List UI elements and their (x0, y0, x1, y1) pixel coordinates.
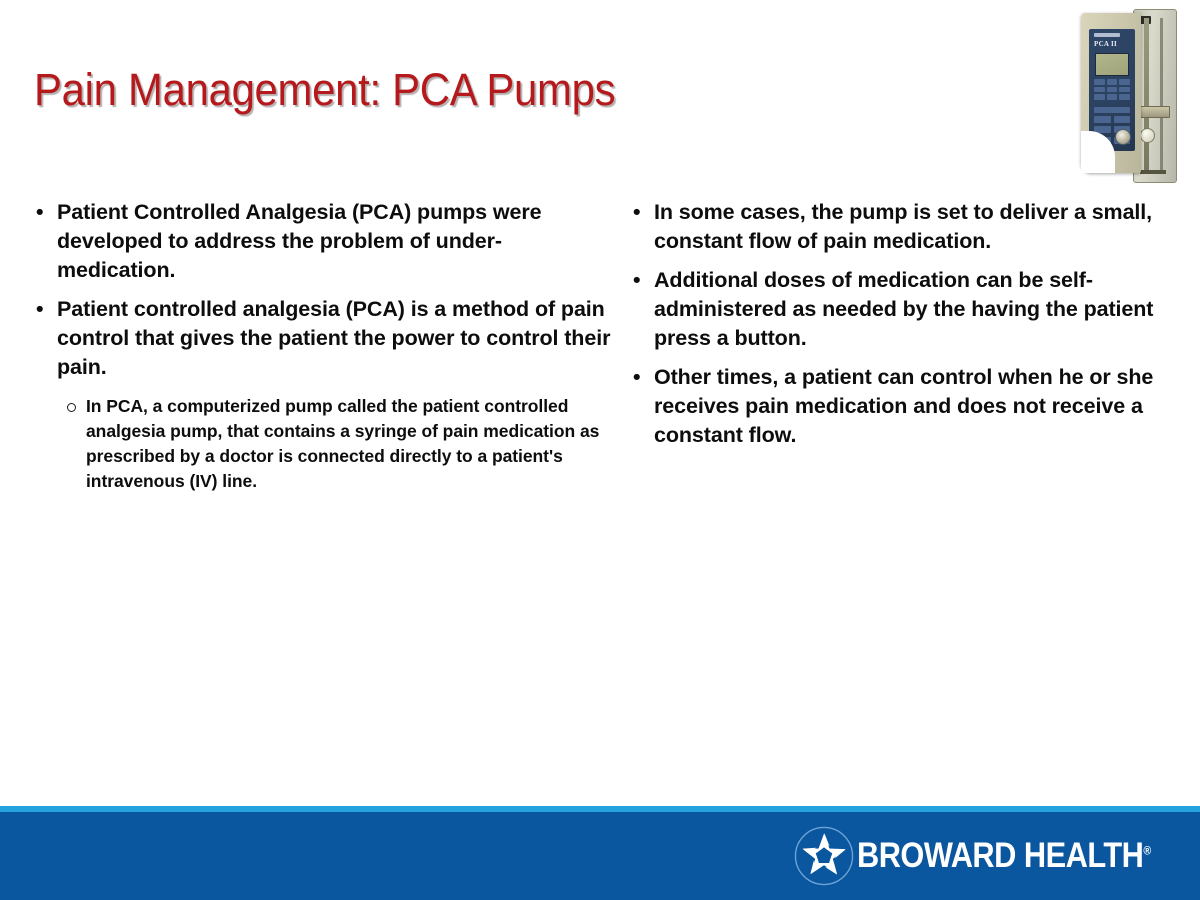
list-item: • Patient controlled analgesia (PCA) is … (28, 295, 618, 382)
bullet-marker-icon: • (36, 198, 43, 227)
pump-key-pair-1 (1094, 116, 1130, 123)
list-item-text: In some cases, the pump is set to delive… (654, 200, 1152, 253)
registered-trademark-symbol: ® (1143, 843, 1151, 857)
list-item: • Other times, a patient can control whe… (625, 363, 1185, 450)
pca-pump-photo: PCA II (1081, 9, 1177, 181)
pump-keypad (1094, 79, 1130, 100)
pump-plunger-slider (1138, 106, 1170, 118)
bullet-marker-icon: • (633, 266, 640, 295)
bullet-marker-icon: • (36, 295, 43, 324)
list-item-text: Other times, a patient can control when … (654, 365, 1153, 447)
sub-list-item: In PCA, a computerized pump called the p… (28, 394, 618, 494)
slide-canvas: Pain Management: PCA Pumps PCA II (0, 0, 1200, 900)
pump-lcd-screen (1095, 53, 1129, 76)
pump-release-knob (1140, 128, 1155, 143)
broward-health-starburst-icon (793, 825, 855, 887)
pump-housing: PCA II (1081, 13, 1141, 173)
bullet-marker-icon: • (633, 363, 640, 392)
sub-list-item-text: In PCA, a computerized pump called the p… (86, 396, 599, 491)
pump-rail (1144, 18, 1149, 174)
pump-model-label: PCA II (1094, 40, 1117, 48)
list-item: • In some cases, the pump is set to deli… (625, 198, 1185, 256)
pump-brand-label (1094, 33, 1120, 37)
pump-key-wide-1 (1094, 107, 1130, 113)
pump-lock-dial (1115, 129, 1131, 145)
broward-health-logo: BROWARD HEALTH® (793, 822, 1191, 890)
right-content-column: • In some cases, the pump is set to deli… (625, 198, 1185, 460)
hollow-circle-bullet-icon (67, 403, 76, 412)
list-item-text: Patient Controlled Analgesia (PCA) pumps… (57, 200, 542, 282)
broward-health-wordmark: BROWARD HEALTH® (857, 836, 1151, 876)
left-content-column: • Patient Controlled Analgesia (PCA) pum… (28, 198, 618, 502)
list-item: • Additional doses of medication can be … (625, 266, 1185, 353)
pump-bottom-clamp (1140, 170, 1166, 174)
page-title: Pain Management: PCA Pumps (34, 63, 615, 117)
pump-rail-secondary (1160, 18, 1163, 174)
list-item-text: Additional doses of medication can be se… (654, 268, 1153, 350)
bullet-marker-icon: • (633, 198, 640, 227)
list-item-text: Patient controlled analgesia (PCA) is a … (57, 297, 610, 379)
list-item: • Patient Controlled Analgesia (PCA) pum… (28, 198, 618, 285)
logo-text: BROWARD HEALTH (857, 836, 1143, 875)
